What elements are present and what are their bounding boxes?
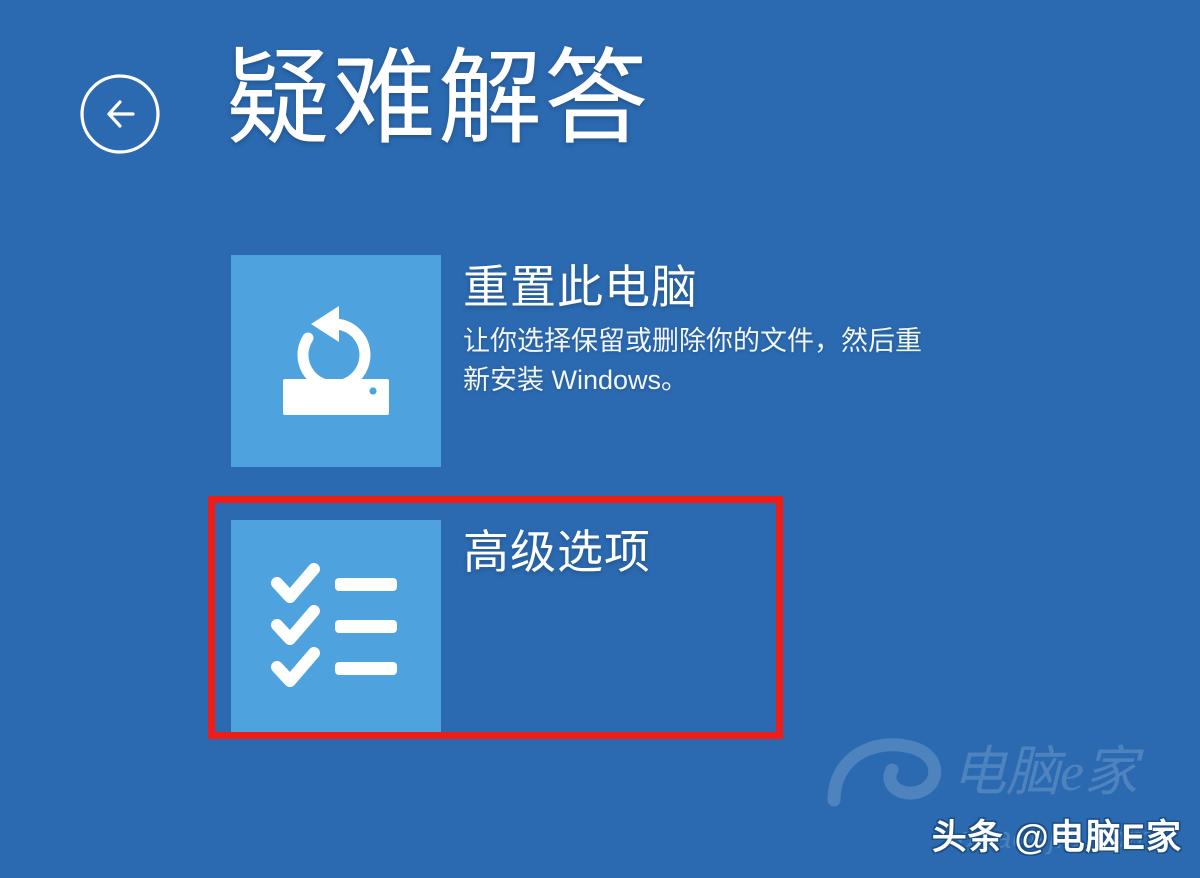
option-reset-text: 重置此电脑 让你选择保留或删除你的文件，然后重新安装 Windows。 — [463, 255, 943, 399]
back-arrow-circle-icon[interactable] — [78, 72, 162, 156]
reset-pc-icon[interactable] — [231, 255, 441, 467]
checklist-icon[interactable] — [231, 520, 441, 732]
option-description: 让你选择保留或删除你的文件，然后重新安装 Windows。 — [463, 322, 943, 399]
recovery-screen: 疑难解答 重置此电脑 让你选择保留或删除你的文件，然后重新安装 Windows。 — [0, 0, 1200, 878]
page-title: 疑难解答 — [226, 36, 650, 163]
url-watermark: dnaoejia.com — [958, 820, 1154, 856]
logo-watermark-text: 电脑e家 — [952, 742, 1144, 802]
site-logo-watermark-icon: 电脑e家 — [822, 730, 1192, 826]
option-title: 高级选项 — [463, 526, 651, 579]
account-watermark: 头条 @电脑E家 — [932, 809, 1182, 860]
screen-header: 疑难解答 — [0, 0, 1200, 215]
option-reset-this-pc[interactable]: 重置此电脑 让你选择保留或删除你的文件，然后重新安装 Windows。 — [231, 255, 943, 467]
option-title: 重置此电脑 — [463, 261, 943, 314]
option-advanced-text: 高级选项 — [463, 520, 651, 579]
option-advanced-options[interactable]: 高级选项 — [231, 520, 651, 732]
